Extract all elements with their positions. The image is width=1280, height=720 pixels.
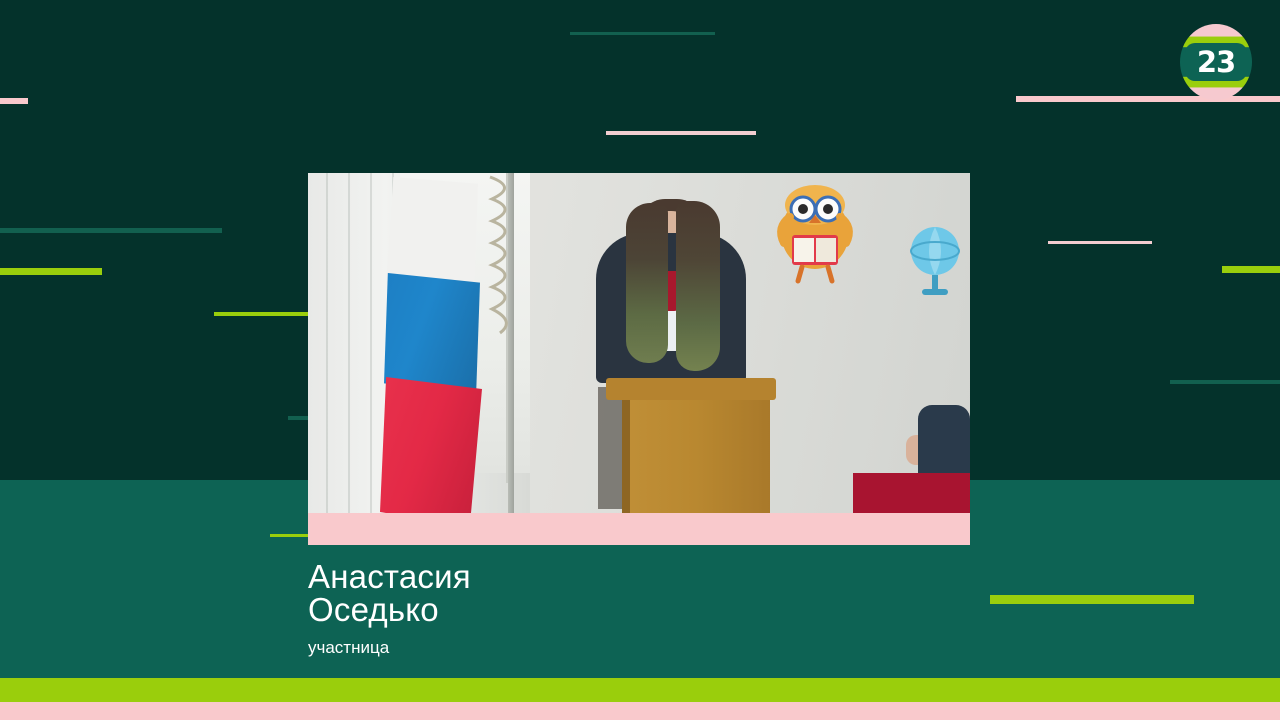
dash-teal-left xyxy=(0,228,222,233)
lower-third: Анастасия Оседько участница xyxy=(308,560,928,658)
dash-pink-center xyxy=(606,131,756,135)
second-person xyxy=(918,405,970,477)
speaker-role: участница xyxy=(308,638,928,658)
russian-flag xyxy=(386,177,478,513)
podium-body xyxy=(622,400,770,513)
flag-stripe-blue xyxy=(384,273,480,393)
video-player[interactable] xyxy=(308,173,970,545)
video-frame-image xyxy=(308,173,970,513)
bottom-green-bar xyxy=(0,678,1280,702)
dash-green-right xyxy=(1222,266,1280,273)
dash-pink-left-edge xyxy=(0,98,28,104)
flag-stripe-white xyxy=(386,177,478,289)
dash-green-left xyxy=(0,268,102,275)
speaker-hair-left xyxy=(626,203,668,363)
bottom-pink-bar xyxy=(0,702,1280,720)
flag-stripe-red xyxy=(380,377,482,513)
channel-logo: 23 xyxy=(1180,24,1252,100)
dash-teal-top-center xyxy=(570,32,715,35)
speaker-name-line2: Оседько xyxy=(308,593,928,626)
dash-pink-right-small xyxy=(1048,241,1152,244)
channel-logo-number: 23 xyxy=(1197,48,1235,77)
dash-green-lower-right xyxy=(990,595,1194,604)
jury-table xyxy=(853,473,970,513)
flag-pole xyxy=(508,173,514,513)
channel-logo-badge: 23 xyxy=(1185,43,1247,81)
speaker-hair-right xyxy=(676,201,720,371)
dash-teal-right xyxy=(1170,380,1280,384)
podium-shadow xyxy=(598,387,622,509)
dash-pink-right xyxy=(1016,96,1280,102)
globe-decoration-icon xyxy=(908,221,962,301)
speaker-name-line1: Анастасия xyxy=(308,560,928,593)
podium-top xyxy=(606,378,776,400)
owl-decoration-icon xyxy=(760,181,870,291)
dash-green-left-2 xyxy=(214,312,312,316)
video-bottom-pink-strip xyxy=(308,513,970,545)
curtain-cord-icon xyxy=(486,175,522,335)
podium-edge xyxy=(622,400,630,513)
broadcast-frame: 23 xyxy=(0,0,1280,720)
